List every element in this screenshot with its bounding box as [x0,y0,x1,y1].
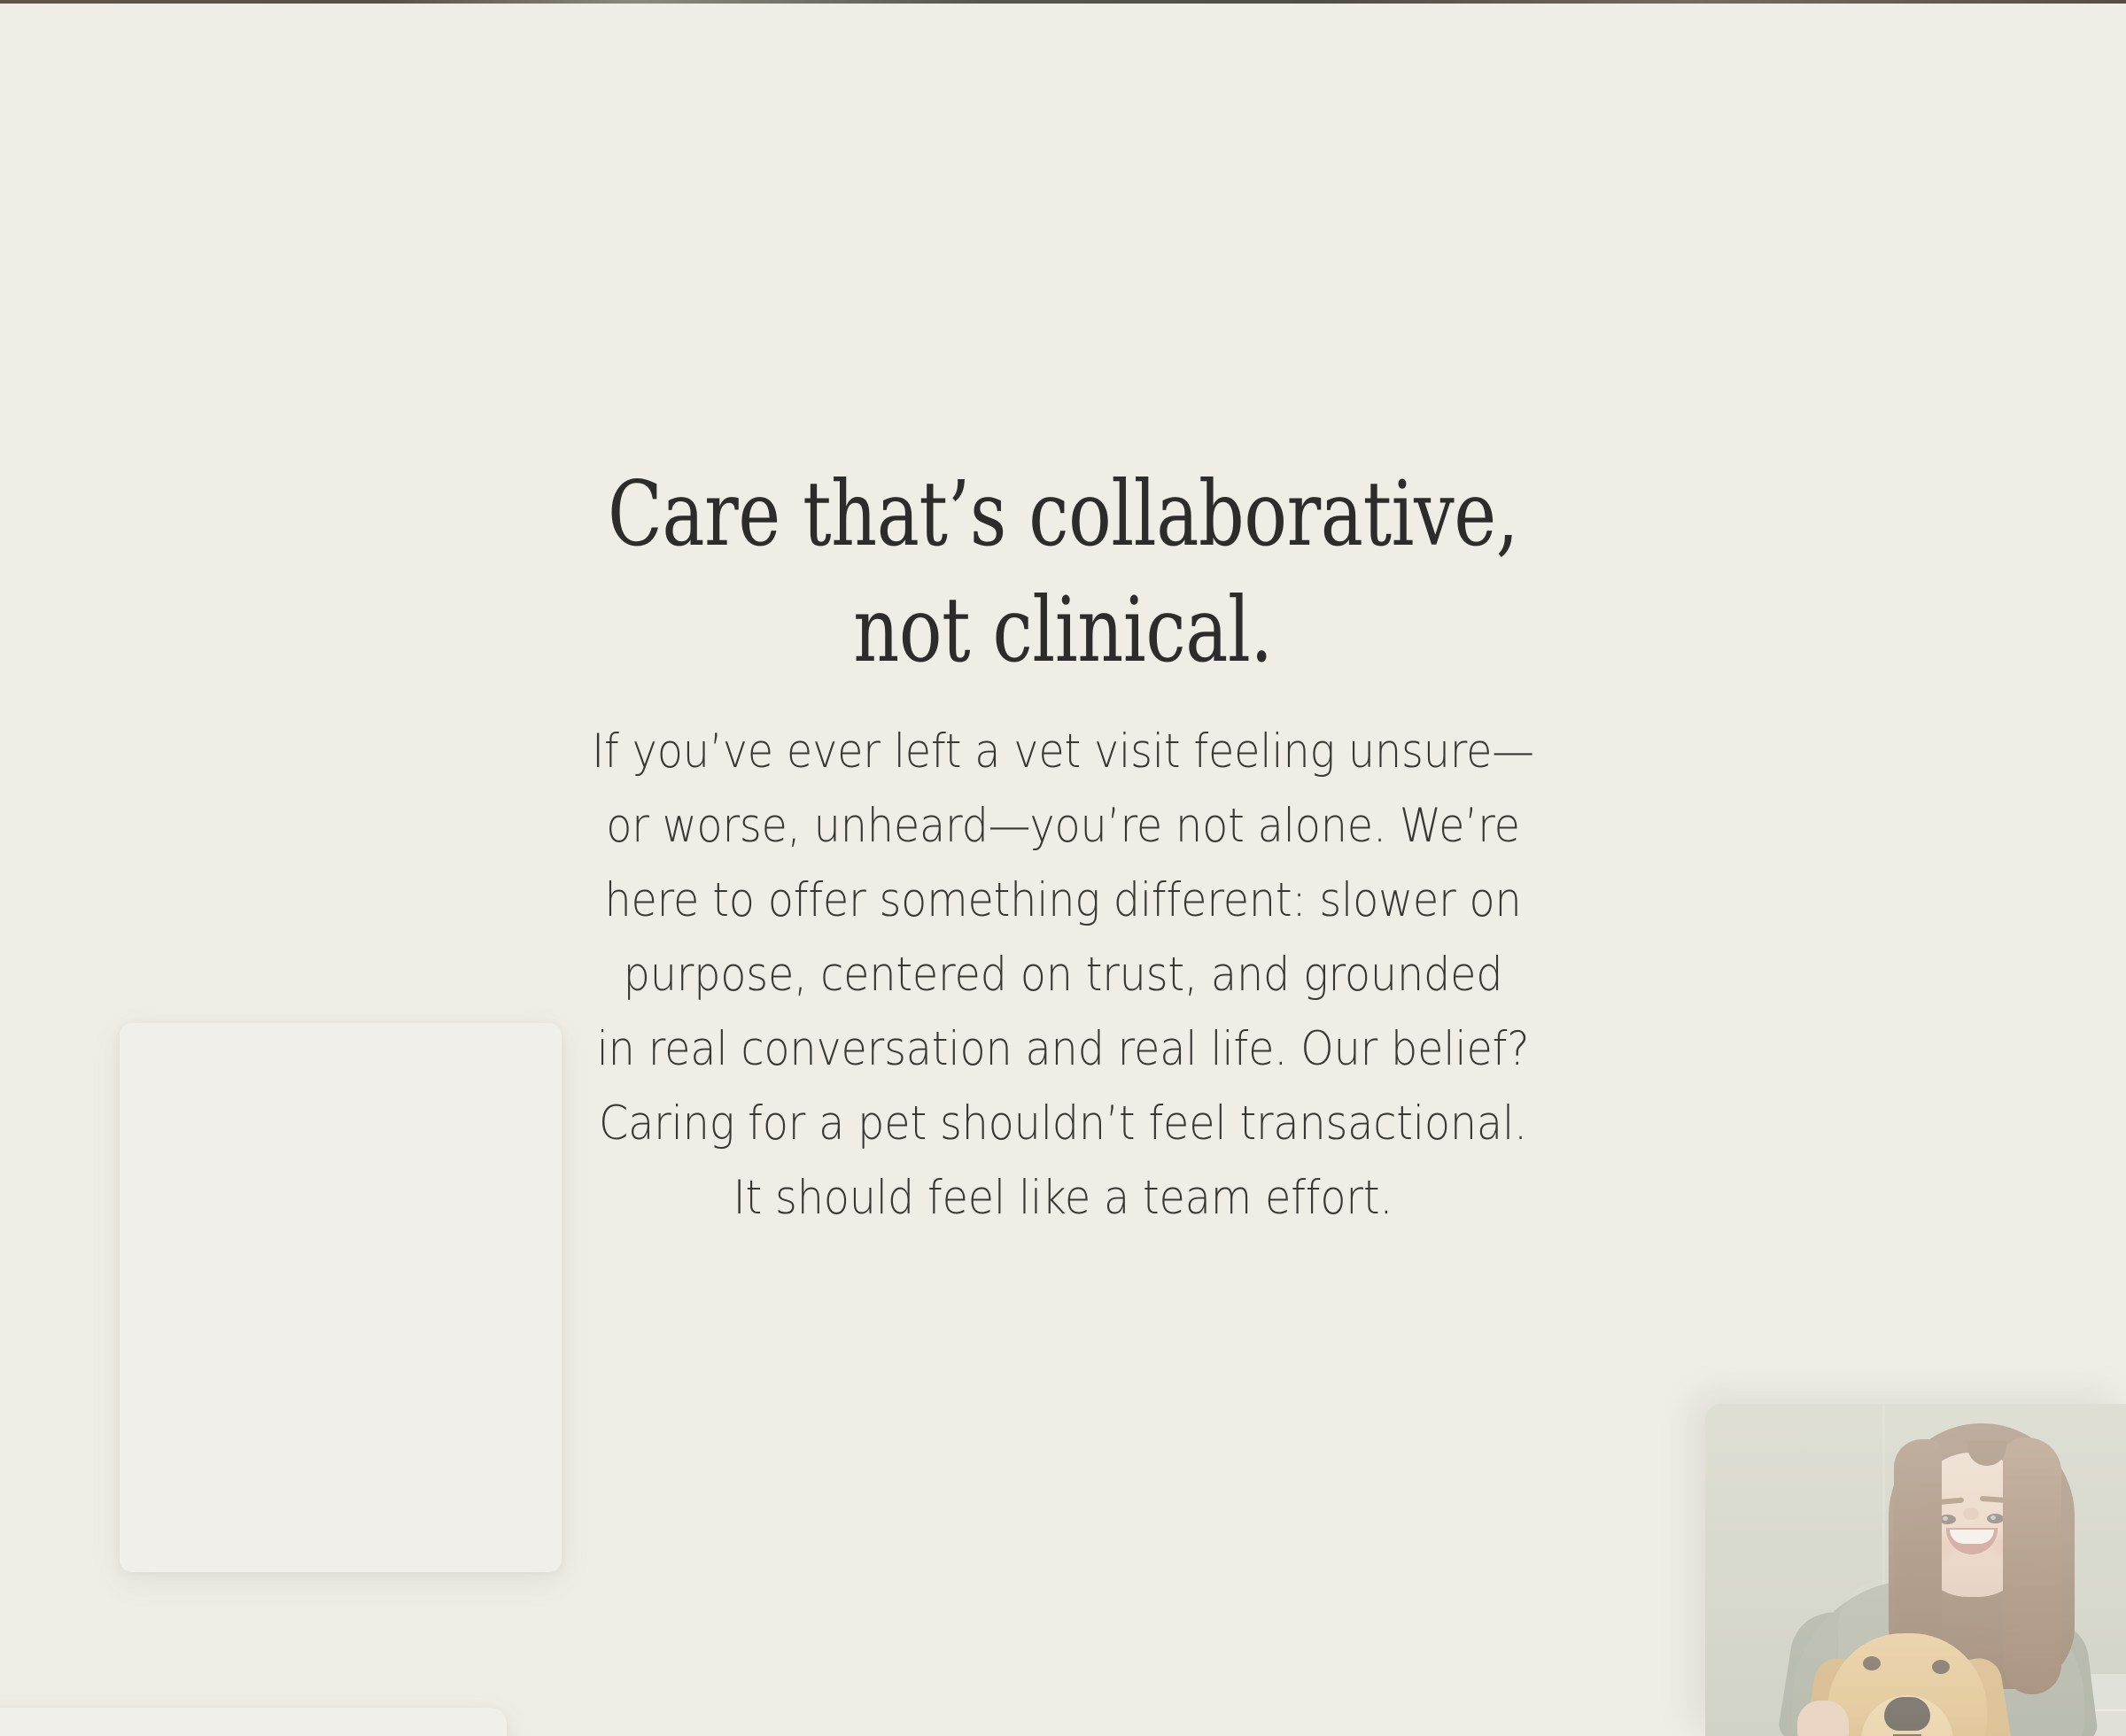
left-eye-highlight [1943,1516,1948,1521]
right-eye-highlight [1990,1515,1996,1520]
nose [1963,1507,1979,1520]
veterinarian-with-dog-photo [1705,1404,2126,1736]
headline-line-1: Care that’s collaborative, [556,456,1570,572]
dog-nose [1884,1697,1930,1731]
section-bleed-strip [0,0,2126,4]
headline-line-2: not clinical. [556,572,1570,688]
subcopy-line-7: It should feel like a team effort. [493,1161,1633,1236]
subcopy-line-6: Caring for a pet shouldn’t feel transact… [493,1087,1633,1161]
subcopy-line-1: If you’ve ever left a vet visit feeling … [493,715,1633,789]
dog-right-eye [1932,1660,1950,1674]
portrait-photo-card [1705,1404,2126,1736]
section-headline: Care that’s collaborative, not clinical. [556,456,1570,688]
hair-front-right [2003,1438,2061,1694]
section-subcopy: If you’ve ever left a vet visit feeling … [493,715,1633,1236]
subcopy-line-2: or worse, unheard—you’re not alone. We’r… [493,789,1633,864]
dog-left-eye [1863,1656,1881,1670]
subcopy-line-5: in real conversation and real life. Our … [493,1012,1633,1087]
subcopy-line-3: here to offer something different: slowe… [493,864,1633,938]
teeth [1950,1530,1994,1544]
about-copy-block: Care that’s collaborative, not clinical.… [430,456,1696,1236]
hand-on-dog [1797,1701,1849,1736]
subcopy-line-4: purpose, centered on trust, and grounded [493,938,1633,1012]
image-placeholder-card-bottom [0,1708,507,1736]
